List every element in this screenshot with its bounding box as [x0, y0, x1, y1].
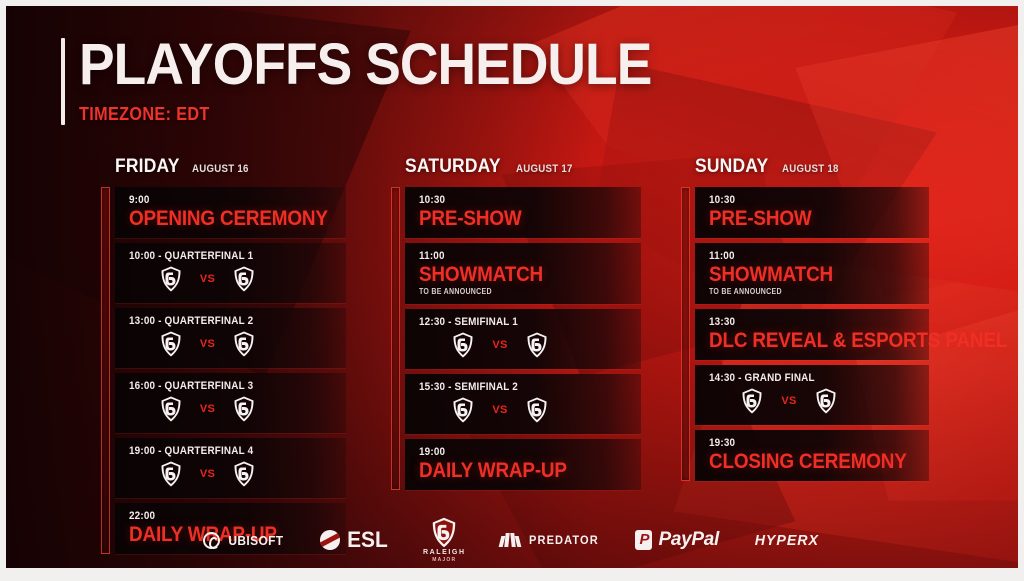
sponsor-paypal: PayPal [635, 529, 719, 551]
match-versus-row: VS [129, 266, 346, 292]
column-accent-bar [391, 187, 400, 490]
day-date: AUGUST 16 [192, 163, 249, 175]
predator-claw-icon [500, 533, 520, 547]
image-frame: PLAYOFFS SCHEDULE TIMEZONE: EDT FRIDAY A… [0, 0, 1024, 581]
schedule-columns: FRIDAY AUGUST 16 9:00 OPENING CEREMONY 1… [6, 156, 1018, 516]
item-time: 9:00 [129, 194, 324, 206]
match-versus-row: VS [129, 396, 346, 422]
vs-label: VS [200, 468, 215, 480]
rainbow-six-shield-icon [233, 461, 255, 487]
schedule-item[interactable]: 19:30 CLOSING CEREMONY [695, 430, 929, 481]
day-date: AUGUST 18 [782, 163, 839, 175]
schedule-item[interactable]: 11:00 SHOWMATCH TO BE ANNOUNCED [405, 243, 641, 304]
rainbow-six-shield-icon [741, 388, 763, 414]
schedule-item[interactable]: 11:00 SHOWMATCH TO BE ANNOUNCED [695, 243, 929, 304]
rainbow-six-shield-icon [160, 331, 182, 357]
match-versus-row: VS [419, 332, 641, 358]
vs-label: VS [781, 395, 796, 407]
schedule-item[interactable]: 10:30 PRE-SHOW [405, 187, 641, 238]
day-header: SUNDAY AUGUST 18 [695, 156, 929, 178]
sponsor-ubisoft: UBISOFT [203, 532, 286, 549]
sponsor-hyperx: HYPERX [753, 532, 821, 549]
day-column-sunday: SUNDAY AUGUST 18 10:30 PRE-SHOW 11:00 SH… [681, 156, 929, 481]
sponsor-esl: ESL [320, 527, 389, 553]
schedule-item[interactable]: 19:00 DAILY WRAP-UP [405, 439, 641, 490]
column-accent-bar [101, 187, 110, 554]
sponsor-label: ESL [347, 527, 388, 553]
schedule-item[interactable]: 12:30 - SEMIFINAL 1 VS [405, 309, 641, 369]
rainbow-six-shield-icon [431, 517, 457, 548]
hyperx-wordmark-icon: HYPERX [755, 532, 819, 549]
rainbow-six-shield-icon [233, 331, 255, 357]
day-date: AUGUST 17 [516, 163, 573, 175]
item-time: 19:30 [709, 437, 907, 449]
day-header: SATURDAY AUGUST 17 [405, 156, 641, 178]
rainbow-six-shield-icon [233, 396, 255, 422]
item-time: 10:30 [419, 194, 619, 206]
item-name: PRE-SHOW [419, 208, 619, 230]
day-name: FRIDAY [115, 156, 180, 178]
item-time: 11:00 [419, 250, 619, 262]
day-name: SUNDAY [695, 156, 768, 178]
rainbow-six-shield-icon [160, 266, 182, 292]
day-column-saturday: SATURDAY AUGUST 17 10:30 PRE-SHOW 11:00 … [391, 156, 641, 490]
item-name: OPENING CEREMONY [129, 208, 324, 230]
item-time: 10:30 [709, 194, 907, 206]
item-time: 14:30 - GRAND FINAL [709, 372, 907, 384]
day-header: FRIDAY AUGUST 16 [115, 156, 346, 178]
item-time: 11:00 [709, 250, 907, 262]
schedule-item[interactable]: 10:00 - QUARTERFINAL 1 VS [115, 243, 346, 303]
schedule-item[interactable]: 9:00 OPENING CEREMONY [115, 187, 346, 238]
vs-label: VS [200, 403, 215, 415]
title-accent-bar [61, 38, 65, 125]
sponsor-label: UBISOFT [229, 533, 284, 548]
paypal-p-icon [635, 530, 652, 550]
day-column-friday: FRIDAY AUGUST 16 9:00 OPENING CEREMONY 1… [101, 156, 346, 554]
item-name: SHOWMATCH [419, 264, 619, 286]
rainbow-six-shield-icon [160, 461, 182, 487]
timezone-label: TIMEZONE: EDT [79, 104, 639, 125]
vs-label: VS [492, 404, 507, 416]
vs-label: VS [200, 338, 215, 350]
match-versus-row: VS [419, 397, 641, 423]
item-time: 13:30 [709, 316, 907, 328]
schedule-item[interactable]: 16:00 - QUARTERFINAL 3 VS [115, 373, 346, 433]
schedule-item[interactable]: 13:30 DLC REVEAL & ESPORTS PANEL [695, 309, 929, 360]
schedule-item[interactable]: 15:30 - SEMIFINAL 2 VS [405, 374, 641, 434]
rainbow-six-shield-icon [815, 388, 837, 414]
rainbow-six-shield-icon [526, 397, 548, 423]
item-time: 16:00 - QUARTERFINAL 3 [129, 380, 324, 392]
item-name: DLC REVEAL & ESPORTS PANEL [709, 330, 907, 352]
sponsor-predator: PREDATOR [500, 533, 602, 547]
item-time: 10:00 - QUARTERFINAL 1 [129, 250, 324, 262]
item-time: 15:30 - SEMIFINAL 2 [419, 381, 619, 393]
item-note: TO BE ANNOUNCED [709, 287, 903, 296]
sponsor-label: PREDATOR [529, 533, 599, 547]
sponsor-raleigh-major: RALEIGH MAJOR [423, 517, 466, 563]
vs-label: VS [492, 339, 507, 351]
schedule-item[interactable]: 13:00 - QUARTERFINAL 2 VS [115, 308, 346, 368]
item-time: 12:30 - SEMIFINAL 1 [419, 316, 619, 328]
item-name: PRE-SHOW [709, 208, 907, 230]
item-name: DAILY WRAP-UP [419, 460, 619, 482]
match-versus-row: VS [709, 388, 929, 414]
sponsor-label: PayPal [658, 529, 719, 551]
item-name: CLOSING CEREMONY [709, 451, 907, 473]
rainbow-six-shield-icon [233, 266, 255, 292]
esl-circle-icon [320, 530, 340, 550]
schedule-item[interactable]: 10:30 PRE-SHOW [695, 187, 929, 238]
sponsor-sublabel: MAJOR [432, 557, 456, 563]
sponsor-label: RALEIGH [423, 549, 466, 556]
match-versus-row: VS [129, 331, 346, 357]
item-time: 13:00 - QUARTERFINAL 2 [129, 315, 324, 327]
schedule-item[interactable]: 19:00 - QUARTERFINAL 4 VS [115, 438, 346, 498]
item-name: SHOWMATCH [709, 264, 907, 286]
ubisoft-swirl-icon [203, 532, 220, 549]
rainbow-six-shield-icon [160, 396, 182, 422]
rainbow-six-shield-icon [452, 397, 474, 423]
rainbow-six-shield-icon [452, 332, 474, 358]
vs-label: VS [200, 273, 215, 285]
day-name: SATURDAY [405, 156, 501, 178]
item-time: 19:00 - QUARTERFINAL 4 [129, 445, 324, 457]
header: PLAYOFFS SCHEDULE TIMEZONE: EDT [61, 38, 701, 125]
item-time: 19:00 [419, 446, 619, 458]
graphic-stage: PLAYOFFS SCHEDULE TIMEZONE: EDT FRIDAY A… [6, 6, 1018, 568]
page-title: PLAYOFFS SCHEDULE [79, 38, 651, 91]
sponsor-bar: UBISOFT ESL RALEIGH MAJOR [6, 512, 1018, 568]
column-accent-bar [681, 187, 690, 481]
match-versus-row: VS [129, 461, 346, 487]
item-note: TO BE ANNOUNCED [419, 287, 614, 296]
rainbow-six-shield-icon [526, 332, 548, 358]
schedule-item[interactable]: 14:30 - GRAND FINAL VS [695, 365, 929, 425]
